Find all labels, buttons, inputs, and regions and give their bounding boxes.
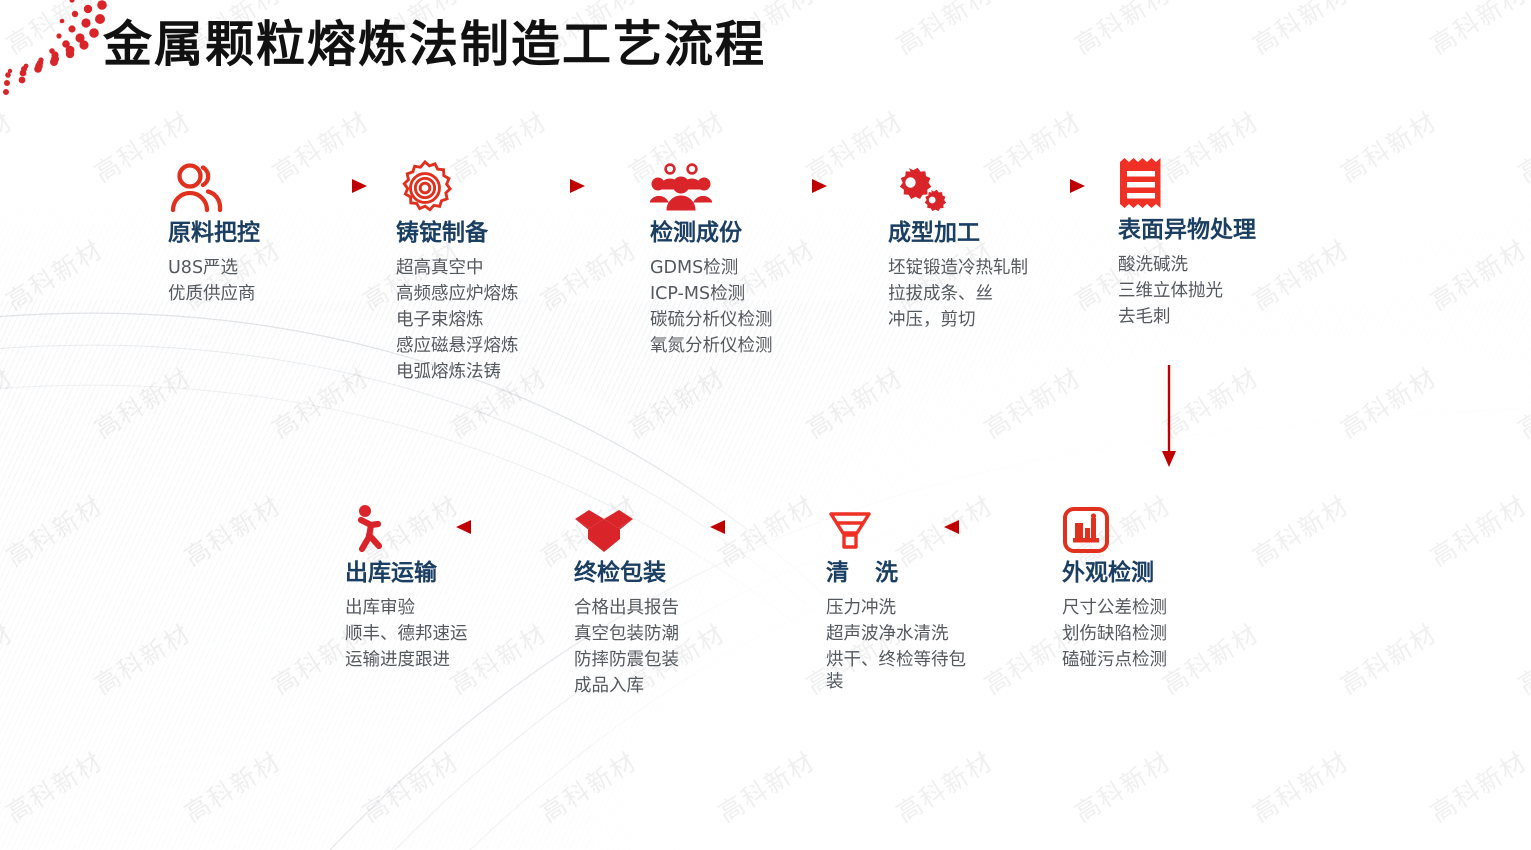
step-card-ingot-preparation[interactable]: 铸锭制备 超高真空中 高频感应炉熔炼 电子束熔炼 感应磁悬浮熔炼 电弧熔炼法铸 [396, 158, 519, 385]
step-title: 成型加工 [888, 220, 1028, 246]
step-title: 清洗 [826, 560, 966, 586]
list-item: 超高真空中 [396, 255, 519, 281]
step-detail-list: 合格出具报告 真空包装防潮 防摔防震包装 成品入库 [574, 595, 679, 699]
list-item: 装 [826, 669, 966, 695]
two-gears-icon [888, 158, 1028, 216]
list-item: 磕碰污点检测 [1062, 647, 1167, 673]
list-item: 电子束熔炼 [396, 307, 519, 333]
step-title: 出库运输 [345, 560, 468, 586]
list-item: 碳硫分析仪检测 [650, 307, 773, 333]
receipt-icon [1118, 155, 1256, 213]
step-detail-list: 出库审验 顺丰、德邦速运 运输进度跟进 [345, 595, 468, 673]
factory-inspect-icon [1062, 498, 1167, 556]
list-item: 烘干、终检等待包 [826, 647, 966, 673]
two-people-icon [168, 158, 260, 216]
list-item: ICP-MS检测 [650, 281, 773, 307]
open-box-icon [574, 498, 679, 556]
funnel-icon [826, 498, 966, 556]
list-item: 划伤缺陷检测 [1062, 621, 1167, 647]
list-item: 高频感应炉熔炼 [396, 281, 519, 307]
arrow-right-icon [757, 177, 829, 195]
step-card-raw-material-control[interactable]: 原料把控 U8S严选 优质供应商 [168, 158, 260, 307]
list-item: 防摔防震包装 [574, 647, 679, 673]
list-item: 电弧熔炼法铸 [396, 359, 519, 385]
step-detail-list: GDMS检测 ICP-MS检测 碳硫分析仪检测 氧氮分析仪检测 [650, 255, 773, 359]
step-title: 外观检测 [1062, 560, 1167, 586]
people-group-icon [650, 158, 773, 216]
step-title: 铸锭制备 [396, 220, 519, 246]
page-header: 金属颗粒熔炼法制造工艺流程 [0, 0, 1531, 100]
arrow-down-icon [1158, 365, 1180, 470]
gear-target-icon [396, 158, 519, 216]
page-title: 金属颗粒熔炼法制造工艺流程 [103, 5, 766, 76]
step-card-surface-treatment[interactable]: 表面异物处理 酸洗碱洗 三维立体抛光 去毛刺 [1118, 155, 1256, 330]
step-detail-list: 坯锭锻造冷热轧制 拉拔成条、丝 冲压，剪切 [888, 255, 1028, 333]
arrow-left-icon [706, 518, 782, 536]
step-detail-list: U8S严选 优质供应商 [168, 255, 260, 307]
list-item: 合格出具报告 [574, 595, 679, 621]
list-item: 三维立体抛光 [1118, 278, 1256, 304]
list-item: 尺寸公差检测 [1062, 595, 1167, 621]
step-title: 表面异物处理 [1118, 217, 1256, 243]
list-item: U8S严选 [168, 255, 260, 281]
step-title: 原料把控 [168, 220, 260, 246]
list-item: 拉拔成条、丝 [888, 281, 1028, 307]
list-item: 超声波净水清洗 [826, 621, 966, 647]
list-item: 去毛刺 [1118, 304, 1256, 330]
list-item: 坯锭锻造冷热轧制 [888, 255, 1028, 281]
step-card-forming-processing[interactable]: 成型加工 坯锭锻造冷热轧制 拉拔成条、丝 冲压，剪切 [888, 158, 1028, 333]
list-item: 真空包装防潮 [574, 621, 679, 647]
list-item: 顺丰、德邦速运 [345, 621, 468, 647]
step-card-composition-testing[interactable]: 检测成份 GDMS检测 ICP-MS检测 碳硫分析仪检测 氧氮分析仪检测 [650, 158, 773, 359]
step-card-appearance-inspection[interactable]: 外观检测 尺寸公差检测 划伤缺陷检测 磕碰污点检测 [1062, 498, 1167, 673]
list-item: 运输进度跟进 [345, 647, 468, 673]
process-flow-diagram: 原料把控 U8S严选 优质供应商 铸锭制备 超高真空中 [0, 0, 1531, 850]
arrow-right-icon [1015, 177, 1087, 195]
list-item: 压力冲洗 [826, 595, 966, 621]
list-item: 冲压，剪切 [888, 307, 1028, 333]
walking-person-icon [345, 498, 468, 556]
list-item: 出库审验 [345, 595, 468, 621]
list-item: 氧氮分析仪检测 [650, 333, 773, 359]
step-card-cleaning[interactable]: 清洗 压力冲洗 超声波净水清洗 烘干、终检等待包 装 [826, 498, 966, 695]
list-item: GDMS检测 [650, 255, 773, 281]
arrow-right-icon [515, 177, 587, 195]
step-detail-list: 尺寸公差检测 划伤缺陷检测 磕碰污点检测 [1062, 595, 1167, 673]
step-title: 终检包装 [574, 560, 679, 586]
step-card-final-inspection-packaging[interactable]: 终检包装 合格出具报告 真空包装防潮 防摔防震包装 成品入库 [574, 498, 679, 699]
list-item: 酸洗碱洗 [1118, 252, 1256, 278]
step-detail-list: 压力冲洗 超声波净水清洗 烘干、终检等待包 装 [826, 595, 966, 695]
step-detail-list: 超高真空中 高频感应炉熔炼 电子束熔炼 感应磁悬浮熔炼 电弧熔炼法铸 [396, 255, 519, 385]
list-item: 感应磁悬浮熔炼 [396, 333, 519, 359]
step-card-outbound-transport[interactable]: 出库运输 出库审验 顺丰、德邦速运 运输进度跟进 [345, 498, 468, 673]
list-item: 成品入库 [574, 673, 679, 699]
arrow-right-icon [297, 177, 369, 195]
step-title: 检测成份 [650, 220, 773, 246]
list-item: 优质供应商 [168, 281, 260, 307]
step-detail-list: 酸洗碱洗 三维立体抛光 去毛刺 [1118, 252, 1256, 330]
